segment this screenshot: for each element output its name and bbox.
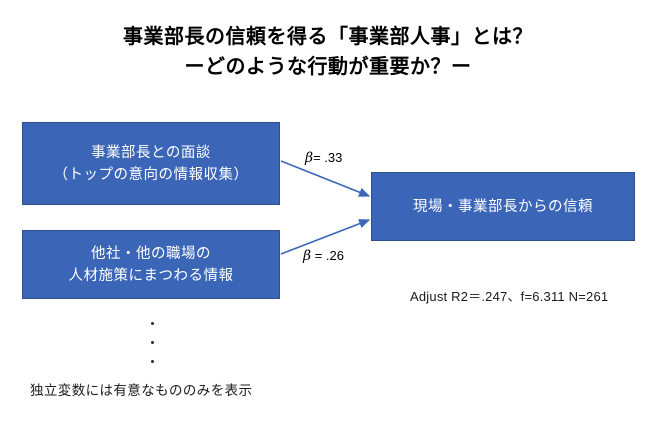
node-box-trust-line-1: 現場・事業部長からの信頼 [413, 196, 593, 218]
page-title-line-1: 事業部長の信頼を得る「事業部人事」とは？ [123, 26, 533, 48]
page-title-line-2: ーどのような行動が重要か？ー [0, 52, 656, 82]
path-coefficient-info: β = .26 [303, 248, 344, 264]
node-box-meeting-text: 事業部長との面談 （トップの意向の情報収集） [54, 142, 249, 186]
ellipsis-dot [151, 341, 154, 344]
node-box-meeting-line-2: （トップの意向の情報収集） [54, 164, 249, 186]
node-box-info-line-2: 人材施策にまつわる情報 [69, 265, 234, 287]
beta-value: = .26 [315, 248, 344, 263]
arrow-meeting-to-trust [281, 161, 369, 196]
node-box-info-text: 他社・他の職場の 人材施策にまつわる情報 [69, 243, 234, 287]
ellipsis-dot [151, 360, 154, 363]
node-box-info: 他社・他の職場の 人材施策にまつわる情報 [22, 230, 280, 299]
slide-canvas: 事業部長の信頼を得る「事業部人事」とは？ ーどのような行動が重要か？ー 事業部長… [0, 0, 656, 427]
node-box-trust-text: 現場・事業部長からの信頼 [413, 196, 593, 218]
footnote: 独立変数には有意なもののみを表示 [30, 379, 252, 399]
beta-symbol: β [305, 150, 313, 166]
beta-symbol: β [303, 248, 311, 264]
node-box-info-line-1: 他社・他の職場の [69, 243, 234, 265]
node-box-meeting: 事業部長との面談 （トップの意向の情報収集） [22, 122, 280, 205]
path-coefficient-meeting: β= .33 [305, 150, 342, 166]
node-box-meeting-line-1: 事業部長との面談 [54, 142, 249, 164]
page-title: 事業部長の信頼を得る「事業部人事」とは？ ーどのような行動が重要か？ー [0, 22, 656, 82]
vertical-ellipsis [128, 322, 176, 363]
node-box-trust: 現場・事業部長からの信頼 [371, 172, 635, 241]
ellipsis-dot [151, 322, 154, 325]
beta-value: = .33 [313, 150, 342, 165]
model-statistics: Adjust R2＝.247、f=6.311 N=261 [410, 286, 608, 305]
